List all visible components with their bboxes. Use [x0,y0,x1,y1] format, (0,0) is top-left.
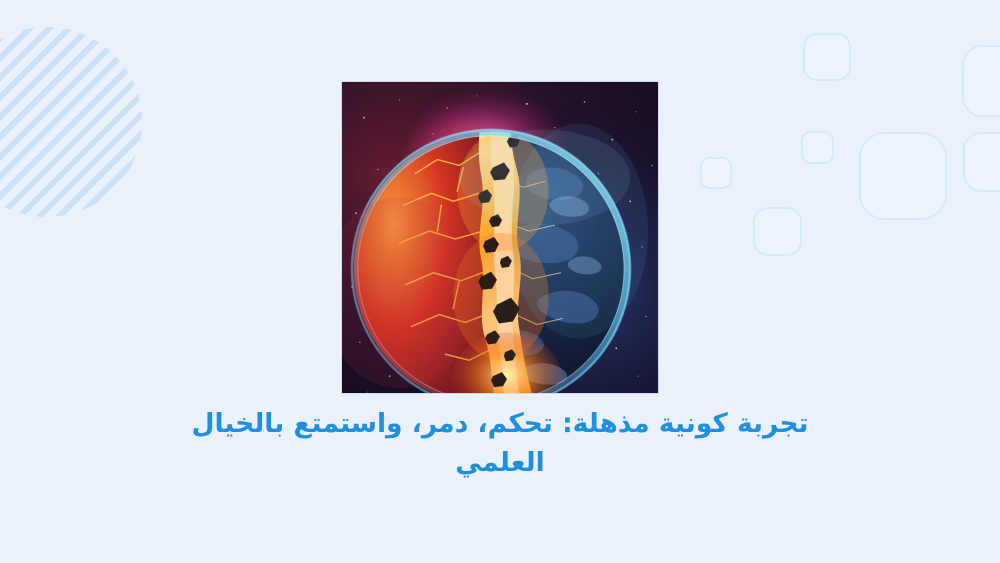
rounded-square-6 [753,207,802,256]
rounded-square-2 [962,45,1000,117]
rounded-square-7 [963,132,1000,192]
promo-slide: تجربة كونية مذهلة: تحكم، دمر، واستمتع با… [0,0,1000,563]
rounded-square-4 [700,157,732,189]
rounded-square-3 [801,131,834,164]
rounded-square-1 [803,33,851,81]
rounded-square-5 [859,132,947,220]
striped-circle-decoration [0,27,142,217]
planet-explosion-image [342,82,658,393]
slide-caption: تجربة كونية مذهلة: تحكم، دمر، واستمتع با… [190,404,810,482]
hero-image-frame [341,81,659,394]
